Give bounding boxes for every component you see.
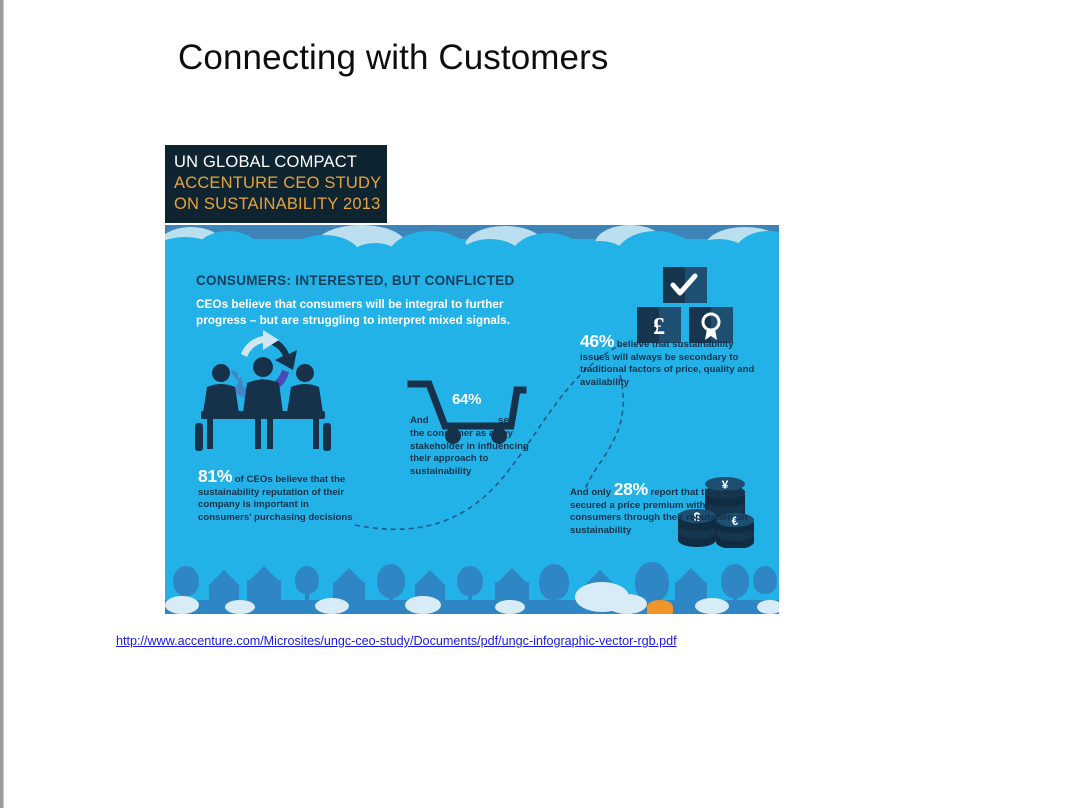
stat-64-value: 64% bbox=[452, 391, 481, 408]
stat-64-text: the consumer as a key stakeholder in inf… bbox=[410, 428, 545, 478]
stat-81: 81% of CEOs believe that the sustainabil… bbox=[198, 470, 358, 524]
check-box-icon bbox=[663, 267, 707, 303]
stat-64-suffix: see bbox=[498, 415, 514, 426]
ground-scenery bbox=[165, 552, 779, 614]
stat-28: And only 28% report that they have secur… bbox=[570, 483, 750, 537]
badge-line-1: UN GLOBAL COMPACT bbox=[174, 152, 387, 173]
badge-line-2: ACCENTURE CEO STUDY bbox=[174, 173, 387, 194]
boxes-icon-group: £ bbox=[637, 267, 737, 345]
source-url-link[interactable]: http://www.accenture.com/Microsites/ungc… bbox=[116, 634, 677, 648]
stat-46: 46% believe that sustainability issues w… bbox=[580, 335, 760, 389]
badge-line-3: ON SUSTAINABILITY 2013 bbox=[174, 194, 387, 215]
stat-46-value: 46% bbox=[580, 331, 614, 351]
page-title: Connecting with Customers bbox=[178, 38, 608, 78]
stat-28-prefix: And only bbox=[570, 487, 614, 498]
report-badge: UN GLOBAL COMPACT ACCENTURE CEO STUDY ON… bbox=[165, 145, 387, 223]
people-at-table-icon bbox=[193, 335, 333, 455]
slide-left-border bbox=[0, 0, 8, 808]
stat-28-value: 28% bbox=[614, 479, 648, 499]
sun-icon bbox=[647, 600, 673, 614]
infographic-image: CONSUMERS: INTERESTED, BUT CONFLICTED CE… bbox=[165, 225, 779, 614]
stat-81-value: 81% bbox=[198, 466, 232, 486]
stat-64-prefix: And bbox=[410, 415, 429, 426]
